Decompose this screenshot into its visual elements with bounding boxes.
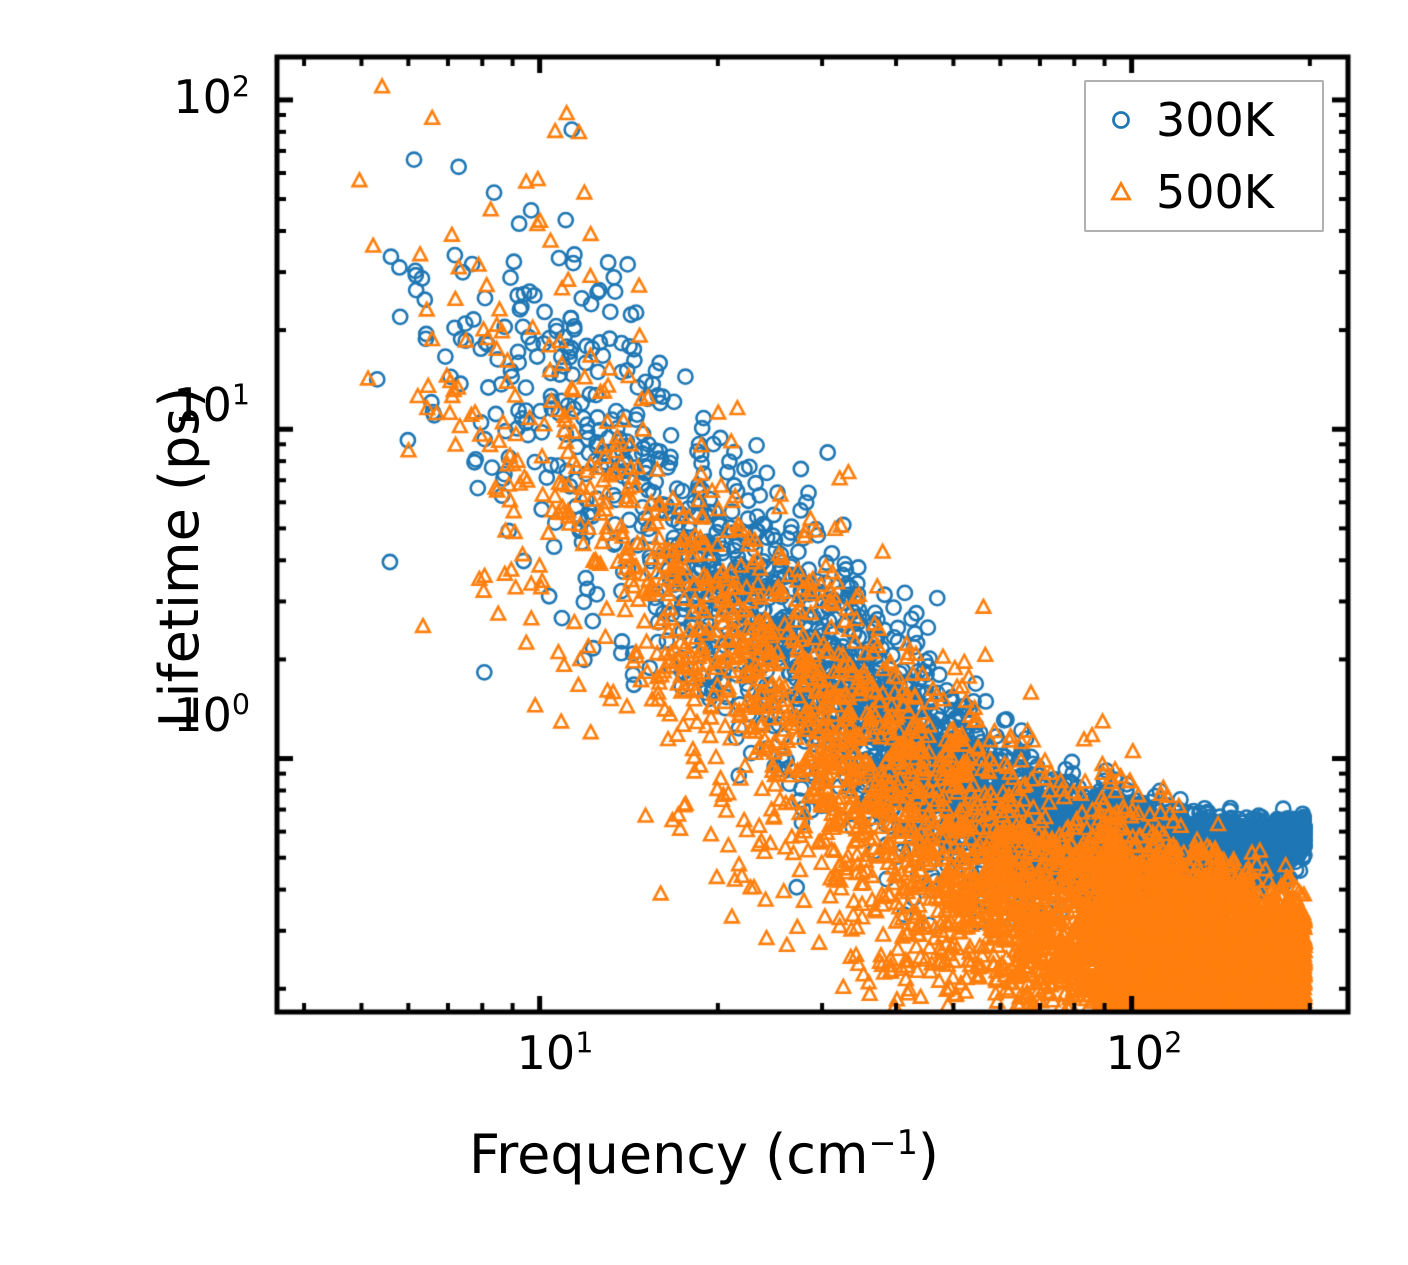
legend-marker-triangle-icon (1086, 175, 1156, 209)
legend-item-500k[interactable]: 500K (1086, 154, 1326, 230)
x-tick-label-10e1: 101 (517, 1030, 594, 1076)
x-axis-title: Frequency (cm−1) (0, 1128, 1408, 1182)
legend-label-300k: 300K (1156, 97, 1274, 143)
figure-canvas-container: 101 102 102 101 100 Frequency (cm−1) Lif… (0, 0, 1408, 1265)
y-axis-title: Lifetime (ps) (153, 17, 207, 1097)
legend-item-300k[interactable]: 300K (1086, 82, 1326, 158)
legend-marker-circle-icon (1086, 103, 1156, 137)
legend-label-500k: 500K (1156, 169, 1274, 215)
legend[interactable]: 300K 500K (1084, 80, 1324, 232)
x-tick-label-10e2: 102 (1106, 1030, 1183, 1076)
